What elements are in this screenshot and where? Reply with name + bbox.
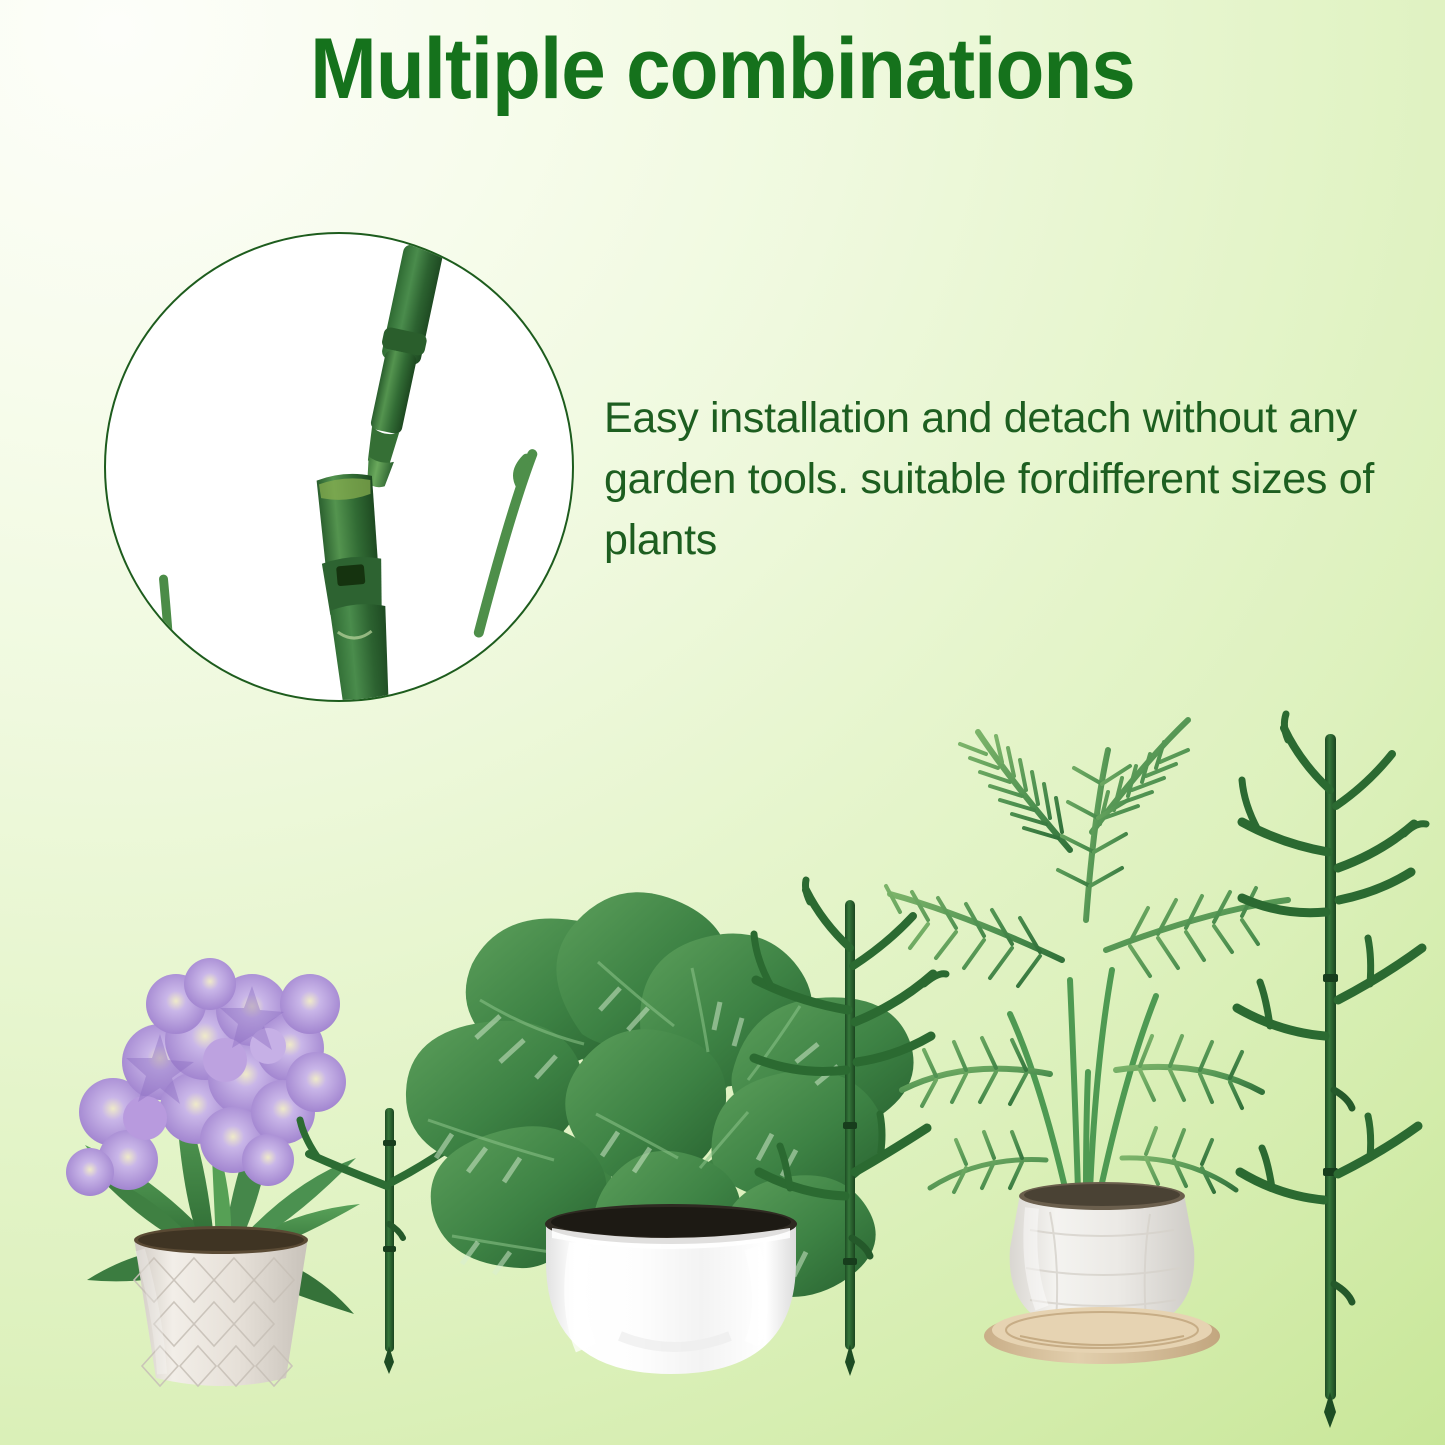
- page-title: Multiple combinations: [51, 24, 1395, 114]
- plant-scenes: [0, 0, 1445, 1445]
- feature-description: Easy installation and detach without any…: [604, 388, 1416, 571]
- plant-stake-large[interactable]: [1237, 714, 1426, 1428]
- branch-arm-left: [164, 579, 170, 652]
- scene-medium-plant: [406, 880, 946, 1376]
- lower-stake-socket: [314, 472, 395, 700]
- scene-large-plant: [886, 714, 1426, 1428]
- pot-white-glossy: [545, 1204, 797, 1374]
- branch-arm-right: [479, 454, 533, 632]
- upper-stake-segment: [357, 243, 446, 470]
- connector-closeup-illustration: [106, 234, 572, 700]
- locking-hole: [336, 564, 365, 586]
- saucer-wood: [984, 1307, 1220, 1364]
- flower-cluster: [66, 958, 346, 1196]
- product-feature-poster: Multiple combinations: [0, 0, 1445, 1445]
- detail-circle-inset: [104, 232, 574, 702]
- scene-small-plant: [66, 958, 494, 1386]
- pot-cream-diamond: [134, 1226, 308, 1386]
